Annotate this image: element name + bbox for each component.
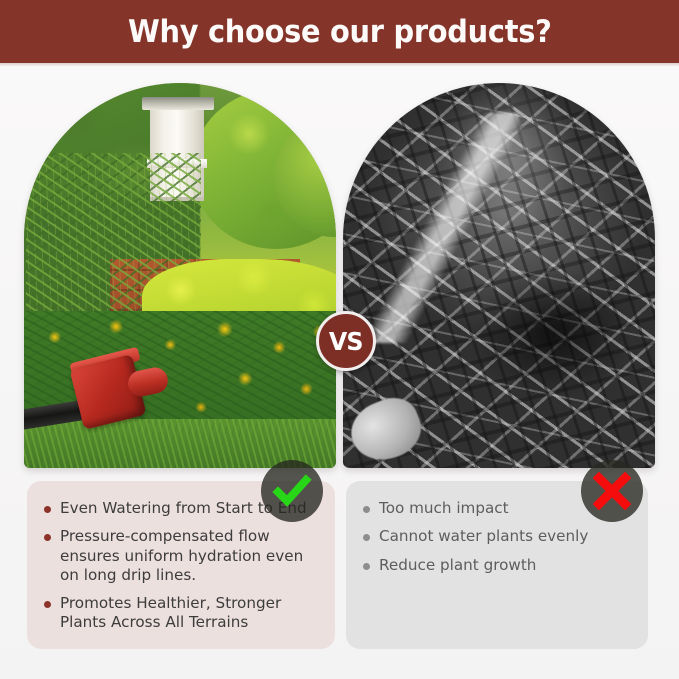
list-item: Promotes Healthier, Stronger Plants Acro… xyxy=(43,594,321,633)
garden-photo xyxy=(24,83,336,468)
vs-label: VS xyxy=(329,327,363,356)
list-item: Pressure-compensated flow ensures unifor… xyxy=(43,527,321,585)
page-title: Why choose our products? xyxy=(128,14,552,50)
straw-photo xyxy=(343,83,655,468)
dark-soil-shape xyxy=(463,233,655,433)
product-comparison-poster: Why choose our products? xyxy=(0,0,679,679)
poster-header: Why choose our products? xyxy=(0,0,679,63)
list-item: Cannot water plants evenly xyxy=(362,527,634,546)
red-cross-icon xyxy=(593,472,631,510)
comparison-panels: VS xyxy=(0,66,679,476)
pillar-cap-shape xyxy=(142,97,214,110)
list-item: Reduce plant growth xyxy=(362,556,634,575)
bullet-cards: Even Watering from Start to End Pressure… xyxy=(0,481,679,656)
right-image-panel xyxy=(343,83,655,468)
left-image-panel xyxy=(24,83,336,468)
rejected-badge xyxy=(581,460,643,522)
green-check-icon xyxy=(272,471,312,511)
approved-badge xyxy=(261,460,323,522)
vs-badge: VS xyxy=(316,311,376,371)
